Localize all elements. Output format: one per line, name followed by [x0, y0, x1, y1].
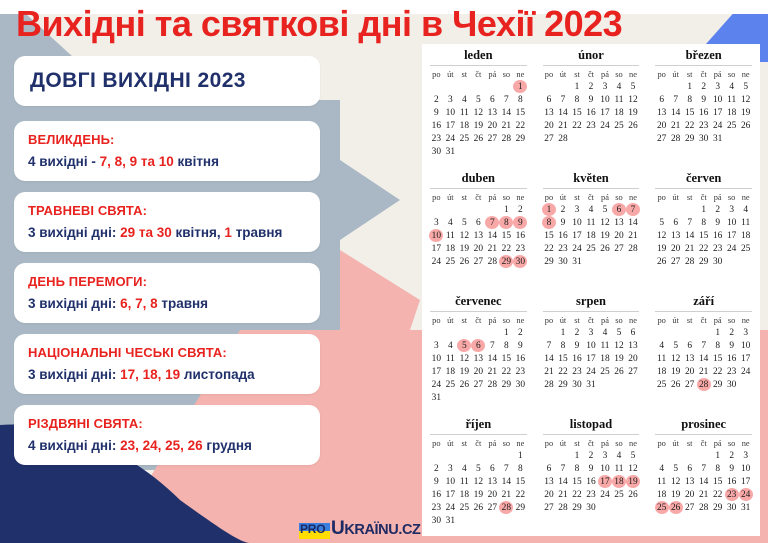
- card-text-dates: 23, 24, 25, 26: [120, 438, 203, 453]
- month-únor: únorpoútstčtpásone1234567891011121314151…: [535, 44, 648, 167]
- day-cell: 12: [471, 475, 485, 488]
- day-cell: 21: [485, 365, 499, 378]
- weekday-header: po: [542, 68, 556, 80]
- day-cell: 29: [711, 378, 725, 391]
- calendar-months-grid: ledenpoútstčtpásone123456789101112131415…: [422, 44, 760, 536]
- day-cell: 8: [697, 216, 711, 229]
- weekday-header: út: [443, 314, 457, 326]
- weekday-header: so: [612, 437, 626, 449]
- day-cell: 18: [598, 352, 612, 365]
- month-duben: dubenpoútstčtpásone123456789101112131415…: [422, 167, 535, 290]
- week-row: 17181920212223: [429, 365, 527, 378]
- day-cell: 19: [669, 365, 683, 378]
- weekday-header: út: [556, 191, 570, 203]
- day-cell: 22: [542, 242, 556, 255]
- week-row: 123: [655, 326, 753, 339]
- card-text-mid: квітня,: [172, 225, 225, 240]
- day-cell: 3: [711, 80, 725, 93]
- weekday-header: st: [570, 437, 584, 449]
- day-cell: 19: [471, 488, 485, 501]
- weekday-header: st: [683, 437, 697, 449]
- logo-wordmark: UKRAÏNU.CZ: [331, 519, 420, 540]
- card-text-post: квітня: [174, 154, 219, 169]
- week-row: 12345: [542, 449, 640, 462]
- day-cell-empty: [499, 145, 513, 158]
- day-cell: 2: [513, 203, 527, 216]
- day-cell: 17: [443, 488, 457, 501]
- weekday-header: pá: [711, 68, 725, 80]
- weekday-header: so: [499, 314, 513, 326]
- day-cell: 8: [570, 93, 584, 106]
- day-cell-holiday: 24: [739, 488, 753, 501]
- weekday-header: čt: [584, 191, 598, 203]
- week-row: 891011121314: [542, 216, 640, 229]
- day-cell: 31: [584, 378, 598, 391]
- day-cell: 29: [499, 378, 513, 391]
- card-text-dates: 7, 8, 9 та 10: [100, 154, 174, 169]
- weekday-header: ne: [513, 437, 527, 449]
- weekday-header: ne: [513, 68, 527, 80]
- day-cell: 24: [443, 132, 457, 145]
- day-cell-holiday: 7: [626, 203, 640, 216]
- month-leden: ledenpoútstčtpásone123456789101112131415…: [422, 44, 535, 167]
- month-table: poútstčtpásone12345678910111213141516171…: [655, 314, 753, 391]
- day-cell-empty: [570, 132, 584, 145]
- month-září: zářípoútstčtpásone1234567891011121314151…: [647, 290, 760, 413]
- day-cell: 19: [655, 242, 669, 255]
- day-cell: 6: [471, 216, 485, 229]
- day-cell: 12: [457, 229, 471, 242]
- day-cell: 2: [697, 80, 711, 93]
- day-cell-empty: [485, 145, 499, 158]
- weekday-header-row: poútstčtpásone: [542, 437, 640, 449]
- day-cell: 26: [612, 365, 626, 378]
- day-cell-empty: [612, 132, 626, 145]
- day-cell: 3: [429, 339, 443, 352]
- day-cell: 11: [457, 106, 471, 119]
- logo-rest: KRAÏNU.CZ: [344, 522, 420, 538]
- day-cell: 22: [513, 119, 527, 132]
- day-cell: 20: [655, 119, 669, 132]
- day-cell: 5: [739, 80, 753, 93]
- weekday-header: po: [542, 314, 556, 326]
- day-cell: 28: [683, 255, 697, 268]
- day-cell: 13: [471, 229, 485, 242]
- day-cell: 24: [429, 255, 443, 268]
- day-cell: 16: [725, 352, 739, 365]
- day-cell: 15: [499, 229, 513, 242]
- day-cell: 5: [669, 462, 683, 475]
- day-cell-empty: [669, 326, 683, 339]
- week-row: 23242526272829: [429, 501, 527, 514]
- weekday-header: so: [725, 191, 739, 203]
- day-cell-empty: [457, 203, 471, 216]
- day-cell: 22: [683, 119, 697, 132]
- weekday-header: so: [725, 314, 739, 326]
- day-cell: 14: [485, 229, 499, 242]
- month-březen: březenpoútstčtpásone12345678910111213141…: [647, 44, 760, 167]
- weekday-header: pá: [485, 68, 499, 80]
- day-cell: 29: [556, 378, 570, 391]
- day-cell: 30: [556, 255, 570, 268]
- day-cell: 21: [683, 242, 697, 255]
- day-cell: 25: [612, 488, 626, 501]
- day-cell: 1: [556, 326, 570, 339]
- day-cell: 19: [457, 365, 471, 378]
- day-cell-empty: [471, 449, 485, 462]
- day-cell-empty: [683, 326, 697, 339]
- day-cell: 3: [598, 449, 612, 462]
- week-row: 78910111213: [542, 339, 640, 352]
- site-logo[interactable]: PRO UKRAÏNU.CZ: [299, 516, 420, 540]
- weekday-header: čt: [584, 68, 598, 80]
- week-row: 10111213141516: [429, 229, 527, 242]
- day-cell: 4: [612, 449, 626, 462]
- day-cell: 6: [626, 326, 640, 339]
- day-cell-empty: [457, 514, 471, 527]
- month-name: duben: [430, 171, 527, 189]
- weekday-header-row: poútstčtpásone: [655, 68, 753, 80]
- day-cell: 26: [626, 119, 640, 132]
- day-cell: 10: [739, 339, 753, 352]
- weekday-header: ne: [739, 437, 753, 449]
- day-cell: 11: [443, 229, 457, 242]
- day-cell: 24: [711, 119, 725, 132]
- weekday-header: st: [570, 191, 584, 203]
- day-cell: 15: [556, 352, 570, 365]
- weekday-header-row: poútstčtpásone: [429, 314, 527, 326]
- day-cell: 12: [612, 339, 626, 352]
- day-cell: 23: [513, 365, 527, 378]
- day-cell: 26: [471, 501, 485, 514]
- day-cell: 7: [485, 339, 499, 352]
- week-row: 24252627282930: [429, 378, 527, 391]
- day-cell: 21: [485, 242, 499, 255]
- day-cell: 10: [598, 93, 612, 106]
- day-cell: 31: [739, 501, 753, 514]
- day-cell-empty: [429, 326, 443, 339]
- weekday-header: čt: [471, 191, 485, 203]
- day-cell: 7: [556, 93, 570, 106]
- day-cell-empty: [499, 449, 513, 462]
- day-cell: 17: [598, 106, 612, 119]
- day-cell: 21: [499, 488, 513, 501]
- day-cell-holiday: 28: [499, 501, 513, 514]
- holiday-card-body: 4 вихідні дні: 23, 24, 25, 26 грудня: [28, 437, 306, 454]
- ukraine-flag-icon: PRO: [299, 523, 330, 539]
- month-name: březen: [655, 48, 752, 66]
- weekday-header: po: [429, 314, 443, 326]
- month-srpen: srpenpoútstčtpásone123456789101112131415…: [535, 290, 648, 413]
- day-cell: 23: [697, 119, 711, 132]
- day-cell: 18: [655, 365, 669, 378]
- month-name: listopad: [543, 417, 640, 435]
- day-cell-empty: [612, 501, 626, 514]
- week-row: 1: [429, 449, 527, 462]
- day-cell: 18: [443, 242, 457, 255]
- day-cell: 28: [499, 132, 513, 145]
- day-cell-holiday: 28: [697, 378, 711, 391]
- day-cell-empty: [683, 203, 697, 216]
- day-cell: 1: [570, 80, 584, 93]
- day-cell: 22: [570, 488, 584, 501]
- weekday-header: út: [443, 191, 457, 203]
- weekday-header: čt: [584, 437, 598, 449]
- week-row: 14151617181920: [542, 352, 640, 365]
- day-cell-empty: [443, 203, 457, 216]
- day-cell: 17: [429, 242, 443, 255]
- week-row: 45678910: [655, 462, 753, 475]
- day-cell: 23: [725, 365, 739, 378]
- day-cell: 8: [513, 462, 527, 475]
- day-cell: 28: [485, 255, 499, 268]
- day-cell: 17: [429, 365, 443, 378]
- day-cell: 1: [683, 80, 697, 93]
- day-cell: 10: [443, 475, 457, 488]
- hero-title: ДОВГІ ВИХІДНІ 2023: [30, 69, 306, 93]
- day-cell: 12: [669, 475, 683, 488]
- day-cell: 14: [499, 475, 513, 488]
- day-cell: 12: [457, 352, 471, 365]
- day-cell-holiday: 18: [612, 475, 626, 488]
- week-row: 13141516171819: [542, 475, 640, 488]
- day-cell-empty: [429, 449, 443, 462]
- day-cell: 23: [584, 119, 598, 132]
- day-cell: 23: [711, 242, 725, 255]
- day-cell: 2: [711, 203, 725, 216]
- day-cell: 16: [697, 106, 711, 119]
- day-cell: 11: [598, 339, 612, 352]
- day-cell: 31: [570, 255, 584, 268]
- day-cell: 30: [711, 255, 725, 268]
- day-cell-holiday: 1: [513, 80, 527, 93]
- day-cell: 13: [612, 216, 626, 229]
- week-row: 2345678: [429, 93, 527, 106]
- day-cell: 14: [669, 106, 683, 119]
- day-cell: 15: [499, 352, 513, 365]
- weekday-header: ne: [626, 68, 640, 80]
- day-cell: 13: [485, 475, 499, 488]
- day-cell: 24: [570, 242, 584, 255]
- day-cell: 25: [612, 119, 626, 132]
- day-cell-empty: [429, 203, 443, 216]
- day-cell: 18: [725, 106, 739, 119]
- day-cell: 4: [584, 203, 598, 216]
- day-cell: 14: [556, 106, 570, 119]
- weekday-header: ne: [626, 437, 640, 449]
- day-cell: 17: [584, 352, 598, 365]
- day-cell-empty: [457, 449, 471, 462]
- day-cell: 26: [626, 488, 640, 501]
- week-row: 31: [429, 391, 527, 404]
- day-cell: 13: [669, 229, 683, 242]
- week-row: 15161718192021: [542, 229, 640, 242]
- day-cell: 23: [429, 501, 443, 514]
- day-cell: 11: [655, 475, 669, 488]
- day-cell: 13: [542, 475, 556, 488]
- day-cell: 12: [471, 106, 485, 119]
- weekday-header: so: [725, 437, 739, 449]
- day-cell: 10: [443, 106, 457, 119]
- weekday-header: po: [429, 437, 443, 449]
- day-cell-empty: [513, 514, 527, 527]
- holiday-card-title: ДЕНЬ ПЕРЕМОГИ:: [28, 273, 306, 290]
- day-cell: 29: [542, 255, 556, 268]
- card-text-pre: 3 вихідні дні:: [28, 296, 120, 311]
- day-cell: 11: [725, 93, 739, 106]
- day-cell: 21: [499, 119, 513, 132]
- month-name: únor: [543, 48, 640, 66]
- day-cell: 31: [443, 514, 457, 527]
- infographic-page: Вихідні та святкові дні в Чехії 2023 ДОВ…: [0, 0, 768, 543]
- weekday-header: st: [683, 68, 697, 80]
- day-cell: 23: [429, 132, 443, 145]
- weekday-header: st: [457, 191, 471, 203]
- day-cell-empty: [471, 203, 485, 216]
- day-cell: 12: [626, 462, 640, 475]
- day-cell: 13: [655, 106, 669, 119]
- day-cell-empty: [471, 326, 485, 339]
- weekday-header-row: poútstčtpásone: [542, 314, 640, 326]
- weekday-header-row: poútstčtpásone: [655, 437, 753, 449]
- day-cell: 17: [725, 229, 739, 242]
- day-cell: 15: [513, 106, 527, 119]
- weekday-header: út: [669, 314, 683, 326]
- week-row: 11121314151617: [655, 475, 753, 488]
- weekday-header: pá: [711, 314, 725, 326]
- day-cell-empty: [626, 378, 640, 391]
- day-cell: 16: [429, 488, 443, 501]
- day-cell: 18: [457, 488, 471, 501]
- day-cell: 29: [697, 255, 711, 268]
- day-cell-holiday: 9: [513, 216, 527, 229]
- month-table: poútstčtpásone12345678910111213141516171…: [542, 191, 640, 268]
- day-cell: 12: [626, 93, 640, 106]
- day-cell: 10: [570, 216, 584, 229]
- day-cell: 26: [739, 119, 753, 132]
- holiday-card-title: ВЕЛИКДЕНЬ:: [28, 131, 306, 148]
- day-cell: 17: [711, 106, 725, 119]
- day-cell-holiday: 1: [542, 203, 556, 216]
- day-cell: 9: [725, 339, 739, 352]
- weekday-header: po: [655, 314, 669, 326]
- month-červenec: červenecpoútstčtpásone123456789101112131…: [422, 290, 535, 413]
- day-cell-empty: [457, 326, 471, 339]
- week-row: 27282930: [542, 501, 640, 514]
- day-cell: 24: [443, 501, 457, 514]
- weekday-header: čt: [697, 437, 711, 449]
- weekday-header: po: [655, 437, 669, 449]
- logo-pro-text: PRO: [300, 523, 325, 535]
- day-cell: 22: [570, 119, 584, 132]
- day-cell-empty: [669, 449, 683, 462]
- day-cell: 21: [697, 365, 711, 378]
- day-cell: 1: [697, 203, 711, 216]
- weekday-header: po: [542, 191, 556, 203]
- day-cell: 23: [584, 488, 598, 501]
- day-cell: 30: [429, 514, 443, 527]
- day-cell: 30: [697, 132, 711, 145]
- day-cell: 16: [556, 229, 570, 242]
- month-name: červenec: [430, 294, 527, 312]
- day-cell: 27: [542, 501, 556, 514]
- day-cell: 6: [485, 462, 499, 475]
- day-cell-empty: [669, 80, 683, 93]
- day-cell-empty: [584, 132, 598, 145]
- day-cell: 22: [556, 365, 570, 378]
- day-cell: 26: [457, 255, 471, 268]
- day-cell: 28: [556, 132, 570, 145]
- month-říjen: říjenpoútstčtpásone123456789101112131415…: [422, 413, 535, 536]
- day-cell-holiday: 6: [471, 339, 485, 352]
- day-cell: 2: [725, 449, 739, 462]
- day-cell: 18: [739, 229, 753, 242]
- day-cell: 3: [598, 80, 612, 93]
- card-text-post: листопада: [180, 367, 255, 382]
- card-text-dates: 29 та 30: [120, 225, 172, 240]
- month-table: poútstčtpásone12345678910111213141516171…: [542, 314, 640, 391]
- day-cell: 27: [485, 501, 499, 514]
- week-row: 3031: [429, 514, 527, 527]
- day-cell-holiday: 10: [429, 229, 443, 242]
- day-cell: 9: [725, 462, 739, 475]
- hero-card: ДОВГІ ВИХІДНІ 2023: [14, 56, 320, 106]
- holiday-card-body: 3 вихідні дні: 6, 7, 8 травня: [28, 295, 306, 312]
- day-cell: 4: [655, 339, 669, 352]
- day-cell: 20: [683, 365, 697, 378]
- weekday-header: po: [655, 68, 669, 80]
- day-cell: 6: [542, 93, 556, 106]
- day-cell-empty: [655, 449, 669, 462]
- day-cell: 27: [542, 132, 556, 145]
- day-cell: 15: [697, 229, 711, 242]
- month-name: září: [655, 294, 752, 312]
- day-cell-empty: [485, 514, 499, 527]
- day-cell: 13: [626, 339, 640, 352]
- week-row: 20212223242526: [655, 119, 753, 132]
- day-cell: 4: [443, 216, 457, 229]
- month-name: prosinec: [655, 417, 752, 435]
- day-cell: 27: [485, 132, 499, 145]
- day-cell: 2: [429, 93, 443, 106]
- weekday-header: ne: [626, 314, 640, 326]
- week-row: 18192021222324: [655, 488, 753, 501]
- day-cell: 22: [697, 242, 711, 255]
- day-cell: 6: [669, 216, 683, 229]
- day-cell: 7: [697, 339, 711, 352]
- day-cell: 4: [457, 93, 471, 106]
- weekday-header: so: [499, 191, 513, 203]
- week-row: 12: [429, 203, 527, 216]
- holiday-card-body: 4 вихідні - 7, 8, 9 та 10 квітня: [28, 153, 306, 170]
- day-cell: 26: [655, 255, 669, 268]
- month-listopad: listopadpoútstčtpásone123456789101112131…: [535, 413, 648, 536]
- day-cell: 9: [697, 93, 711, 106]
- day-cell-empty: [683, 449, 697, 462]
- week-row: 1: [429, 80, 527, 93]
- day-cell-empty: [725, 132, 739, 145]
- week-row: 6789101112: [542, 93, 640, 106]
- day-cell: 21: [542, 365, 556, 378]
- day-cell-holiday: 25: [655, 501, 669, 514]
- day-cell: 4: [739, 203, 753, 216]
- day-cell-empty: [626, 132, 640, 145]
- day-cell: 7: [499, 93, 513, 106]
- holiday-card-title: НАЦІОНАЛЬНІ ЧЕСЬКІ СВЯТА:: [28, 344, 306, 361]
- day-cell: 18: [584, 229, 598, 242]
- day-cell: 8: [570, 462, 584, 475]
- weekday-header: čt: [584, 314, 598, 326]
